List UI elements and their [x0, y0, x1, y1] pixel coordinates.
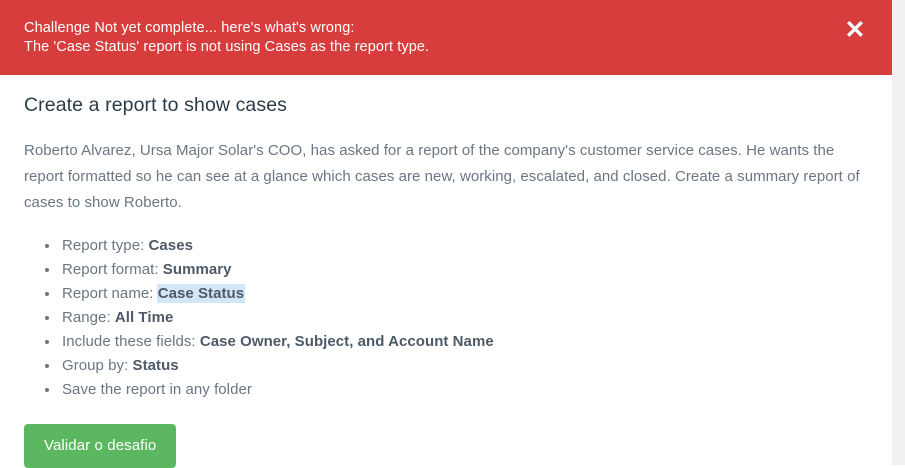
challenge-page: Challenge Not yet complete... here's wha… — [0, 0, 905, 465]
challenge-description: Roberto Alvarez, Ursa Major Solar's COO,… — [24, 117, 864, 216]
challenge-content: Create a report to show cases Roberto Al… — [0, 75, 892, 468]
list-item: Save the report in any folder — [62, 378, 868, 402]
challenge-error-alert: Challenge Not yet complete... here's wha… — [0, 0, 892, 75]
alert-message-line-1: Challenge Not yet complete... here's wha… — [24, 19, 804, 38]
requirement-value: Status — [133, 357, 179, 374]
requirement-label: Save the report in any folder — [62, 381, 252, 398]
requirement-label: Group by: — [62, 357, 133, 374]
requirement-label: Report type: — [62, 237, 149, 254]
list-item: Report format: Summary — [62, 258, 868, 282]
list-item: Include these fields: Case Owner, Subjec… — [62, 330, 868, 354]
requirements-list: Report type: Cases Report format: Summar… — [24, 216, 868, 402]
list-item: Group by: Status — [62, 354, 868, 378]
vertical-scrollbar[interactable] — [892, 0, 905, 465]
close-icon[interactable]: ✕ — [842, 17, 868, 43]
alert-message-line-2: The 'Case Status' report is not using Ca… — [24, 38, 804, 57]
requirement-value: Cases — [149, 237, 193, 254]
requirement-label: Include these fields: — [62, 333, 200, 350]
validate-challenge-button[interactable]: Validar o desafio — [24, 424, 176, 468]
requirement-value-highlighted: Case Status — [158, 285, 244, 302]
alert-message: Challenge Not yet complete... here's wha… — [24, 19, 804, 57]
requirement-value: Summary — [163, 261, 232, 278]
requirement-value: All Time — [115, 309, 173, 326]
requirement-value: Case Owner, Subject, and Account Name — [200, 333, 494, 350]
requirement-label: Report name: — [62, 285, 158, 302]
requirement-label: Report format: — [62, 261, 163, 278]
requirement-label: Range: — [62, 309, 115, 326]
list-item: Report type: Cases — [62, 234, 868, 258]
list-item: Range: All Time — [62, 306, 868, 330]
page-title: Create a report to show cases — [24, 75, 868, 117]
list-item: Report name: Case Status — [62, 282, 868, 306]
